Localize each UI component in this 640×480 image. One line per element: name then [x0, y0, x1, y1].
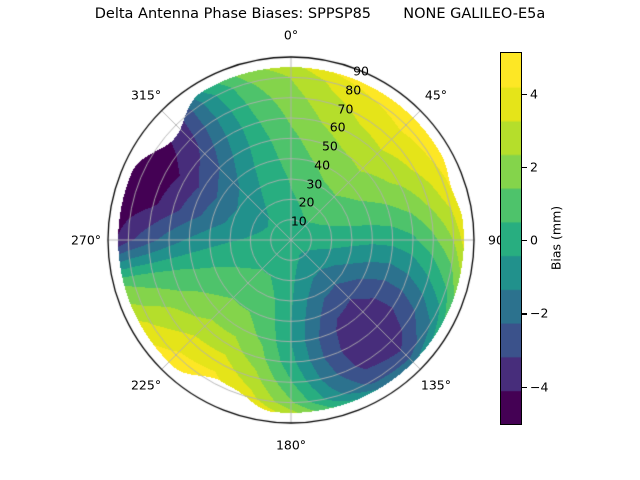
colorbar: 420−2−4: [500, 52, 522, 425]
azimuth-tick-label: 135°: [421, 377, 451, 392]
azimuth-tick-label: 180°: [276, 438, 306, 453]
zenith-tick-label: 60: [330, 120, 346, 135]
colorbar-tick-mark: [522, 313, 527, 314]
colorbar-tick-mark: [522, 94, 527, 95]
zenith-tick-label: 40: [314, 157, 330, 172]
colorbar-axis-label: Bias (mm): [549, 206, 564, 270]
colorbar-tick-mark: [522, 240, 527, 241]
zenith-tick-label: 90: [353, 63, 369, 78]
azimuth-tick-label: 315°: [131, 88, 161, 103]
zenith-tick-label: 20: [299, 195, 315, 210]
zenith-tick-label: 80: [345, 82, 361, 97]
colorbar-tick-mark: [522, 167, 527, 168]
azimuth-tick-label: 0°: [284, 28, 298, 43]
colorbar-tick-label: −2: [530, 306, 548, 321]
azimuth-tick-label: 225°: [131, 377, 161, 392]
colorbar-tick-label: 0: [530, 233, 538, 248]
colorbar-tick-label: 2: [530, 160, 538, 175]
zenith-tick-label: 10: [291, 214, 307, 229]
colorbar-tick-label: −4: [530, 379, 548, 394]
azimuth-tick-label: 45°: [425, 88, 447, 103]
zenith-tick-label: 70: [338, 101, 354, 116]
azimuth-tick-label: 270°: [71, 233, 101, 248]
figure-canvas: Delta Antenna Phase Biases: SPPSP85 NONE…: [0, 0, 640, 480]
colorbar-tick-label: 4: [530, 87, 538, 102]
polar-plot: 0°45°90135°180°225°270°315° 102030405060…: [0, 0, 640, 480]
colorbar-gradient: [500, 52, 522, 425]
colorbar-tick-mark: [522, 387, 527, 388]
zenith-tick-label: 30: [306, 176, 322, 191]
zenith-tick-label: 50: [322, 139, 338, 154]
